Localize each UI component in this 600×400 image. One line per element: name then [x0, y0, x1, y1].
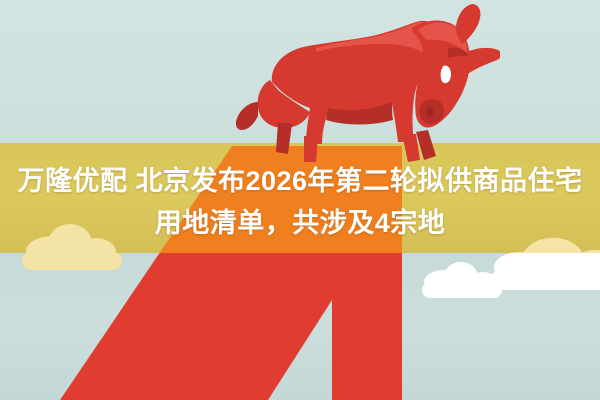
- headline-line-1: 万隆优配 北京发布2026年第二轮拟供商品住宅: [0, 160, 600, 202]
- news-banner: 万隆优配 北京发布2026年第二轮拟供商品住宅 用地清单，共涉及4宗地: [0, 0, 600, 400]
- red-bull-icon: [212, 4, 500, 170]
- headline-line-2: 用地清单，共涉及4宗地: [0, 202, 600, 244]
- headline: 万隆优配 北京发布2026年第二轮拟供商品住宅 用地清单，共涉及4宗地: [0, 160, 600, 244]
